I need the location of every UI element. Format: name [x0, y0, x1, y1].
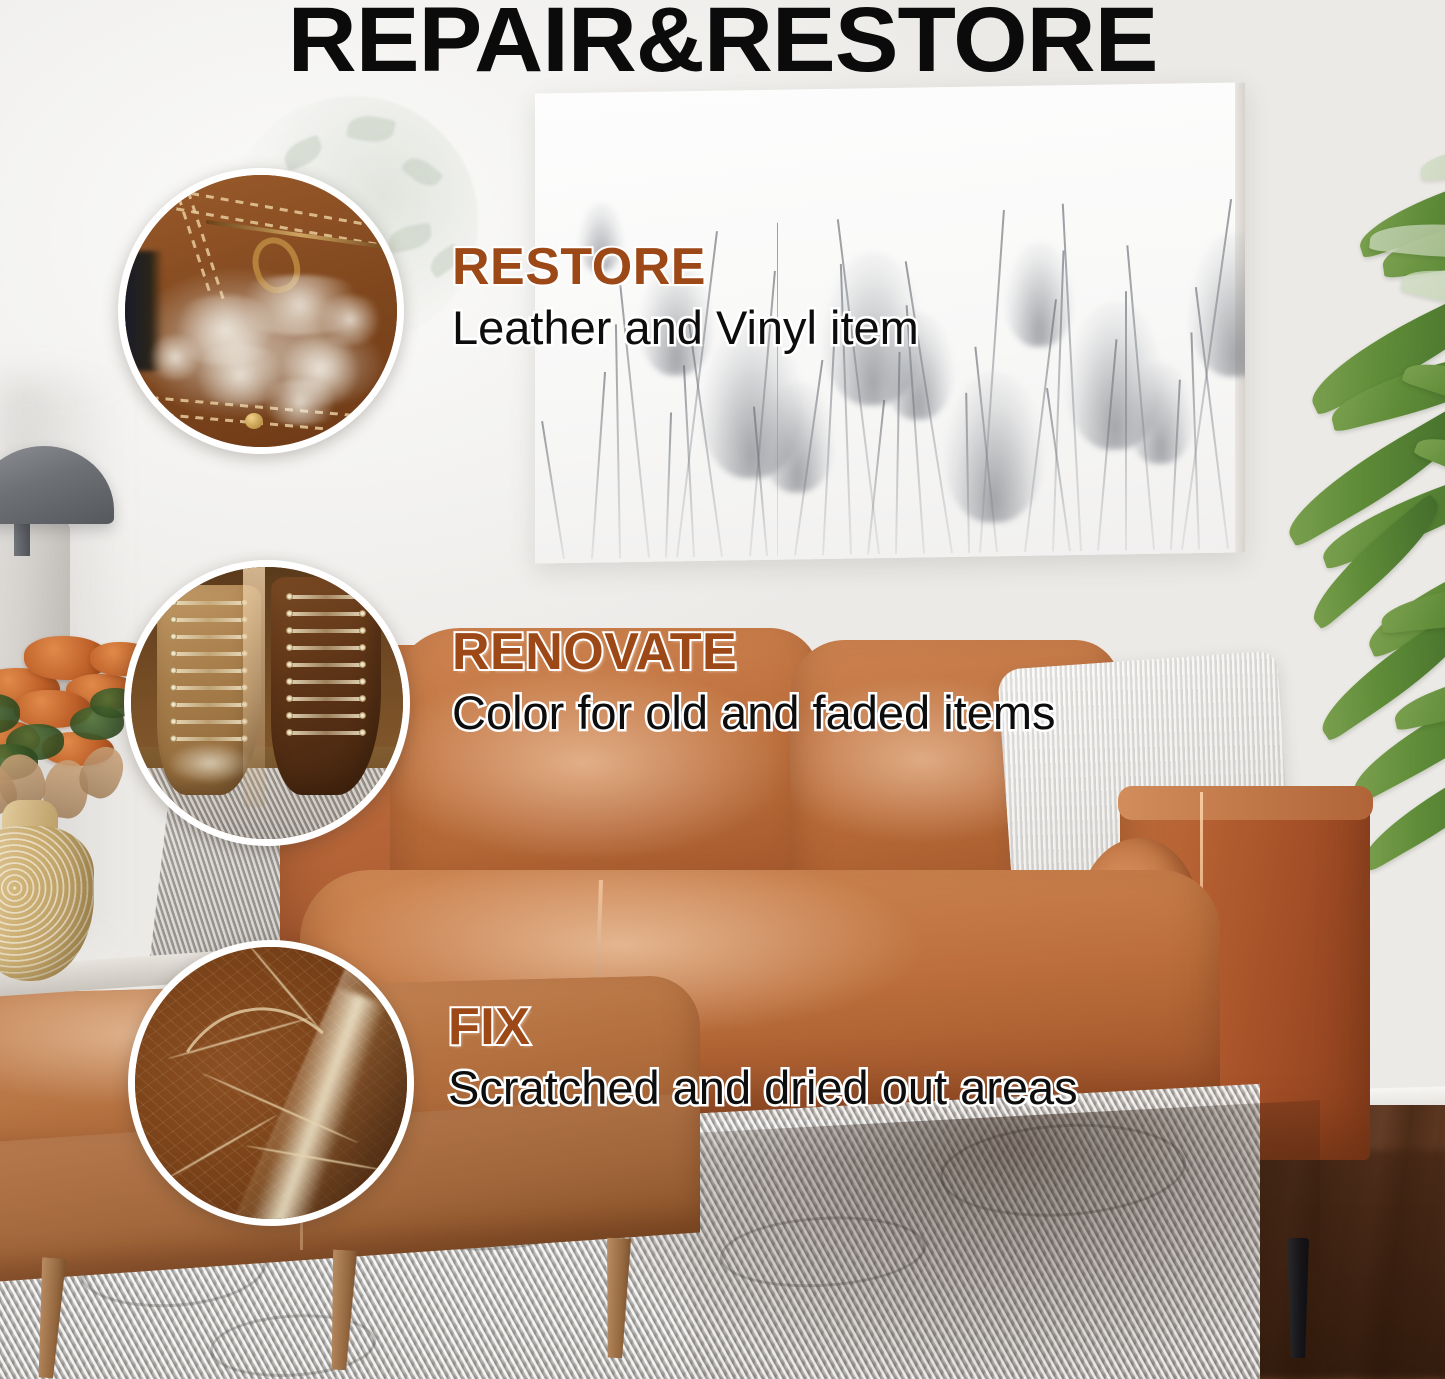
feature-restore-heading: RESTORE [452, 240, 919, 295]
feature-fix-heading: FIX [448, 1000, 1078, 1055]
moldy-leather-bag-image [125, 175, 397, 447]
feature-restore: RESTORE Leather and Vinyl item [452, 240, 919, 353]
callout-circle-renovate [124, 560, 410, 846]
feature-fix: FIX Scratched and dried out areas [448, 1000, 1078, 1113]
scratched-leather-image [135, 947, 407, 1219]
product-feature-poster: REPAIR&RESTORE [0, 0, 1445, 1379]
worn-boots-image [131, 567, 403, 839]
feature-renovate-heading: RENOVATE [452, 625, 1056, 680]
sofa-arm-top [1118, 786, 1373, 820]
feature-renovate-subtext: Color for old and faded items [452, 688, 1056, 739]
feature-restore-subtext: Leather and Vinyl item [452, 303, 919, 354]
callout-circle-restore [118, 168, 404, 454]
rug-pattern [210, 1310, 376, 1379]
callout-circle-fix [128, 940, 414, 1226]
plant-leaf [1419, 139, 1445, 181]
page-title: REPAIR&RESTORE [0, 0, 1445, 86]
feature-fix-subtext: Scratched and dried out areas [448, 1063, 1078, 1114]
feature-renovate: RENOVATE Color for old and faded items [452, 625, 1056, 738]
